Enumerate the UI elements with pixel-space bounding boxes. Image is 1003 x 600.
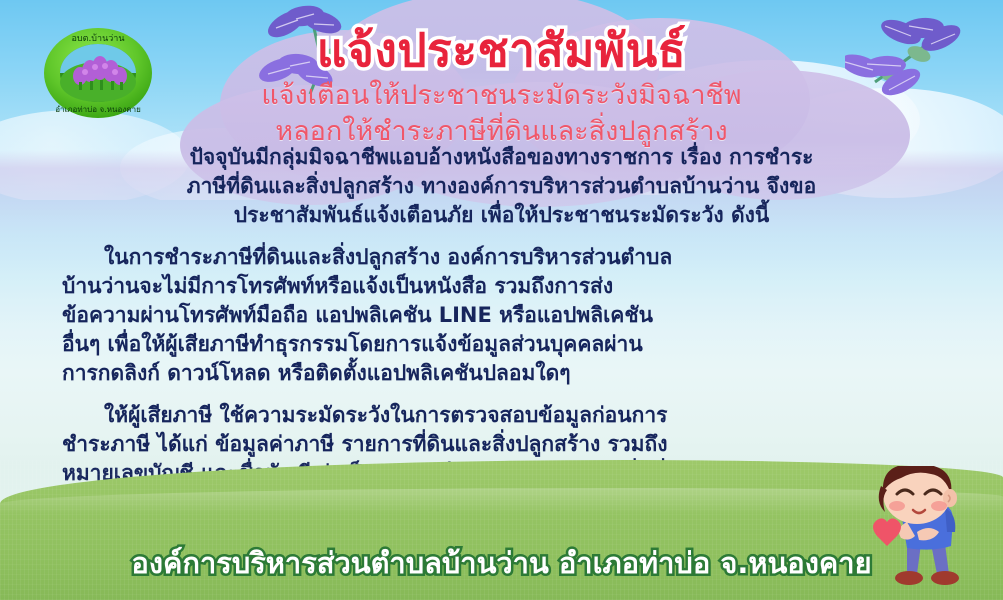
paragraph-3-line-2: ชำระภาษี ได้แก่ ข้อมูลค่าภาษี รายการที่ด… (62, 430, 941, 459)
paragraph-1-line-2: ภาษีที่ดินและสิ่งปลูกสร้าง ทางองค์การบริ… (22, 172, 981, 201)
paragraph-2-line-4: อื่นๆ เพื่อให้ผู้เสียภาษีทำธุรกรรมโดยการ… (62, 330, 941, 359)
announcement-poster: อบต.บ้านว่าน อำเภอท่าบ่อ จ.หนองคาย (0, 0, 1003, 600)
paragraph-1: ปัจจุบันมีกลุ่มมิจฉาชีพแอบอ้างหนังสือของ… (0, 143, 1003, 230)
paragraph-1-line-1: ปัจจุบันมีกลุ่มมิจฉาชีพแอบอ้างหนังสือของ… (22, 143, 981, 172)
paragraph-3-line-1-text: ให้ผู้เสียภาษี ใช้ความระมัดระวังในการตรว… (104, 403, 667, 427)
paragraph-2-line-1: ในการชำระภาษีที่ดินและสิ่งปลูกสร้าง องค์… (62, 243, 941, 272)
page-subtitle: แจ้งเตือนให้ประชาชนระมัดระวังมิจฉาชีพ หล… (0, 78, 1003, 150)
subtitle-line-1: แจ้งเตือนให้ประชาชนระมัดระวังมิจฉาชีพ (0, 78, 1003, 114)
paragraph-2-line-2: บ้านว่านจะไม่มีการโทรศัพท์หรือแจ้งเป็นหน… (62, 272, 941, 301)
paragraph-1-line-3: ประชาสัมพันธ์แจ้งเตือนภัย เพื่อให้ประชาช… (22, 201, 981, 230)
paragraph-2-line-3: ข้อความผ่านโทรศัพท์มือถือ แอปพลิเคชัน LI… (62, 301, 941, 330)
paragraph-2-line-1-text: ในการชำระภาษีที่ดินและสิ่งปลูกสร้าง องค์… (104, 245, 672, 269)
organization-footer: องค์การบริหารส่วนตำบลบ้านว่าน อำเภอท่าบ่… (0, 540, 1003, 586)
page-title: แจ้งประชาสัมพันธ์ (0, 14, 1003, 87)
paragraph-3-line-1: ให้ผู้เสียภาษี ใช้ความระมัดระวังในการตรว… (62, 401, 941, 430)
paragraph-2-line-5: การกดลิงก์ ดาวน์โหลด หรือติดตั้งแอปพลิเค… (62, 359, 941, 388)
paragraph-2: ในการชำระภาษีที่ดินและสิ่งปลูกสร้าง องค์… (0, 243, 1003, 388)
